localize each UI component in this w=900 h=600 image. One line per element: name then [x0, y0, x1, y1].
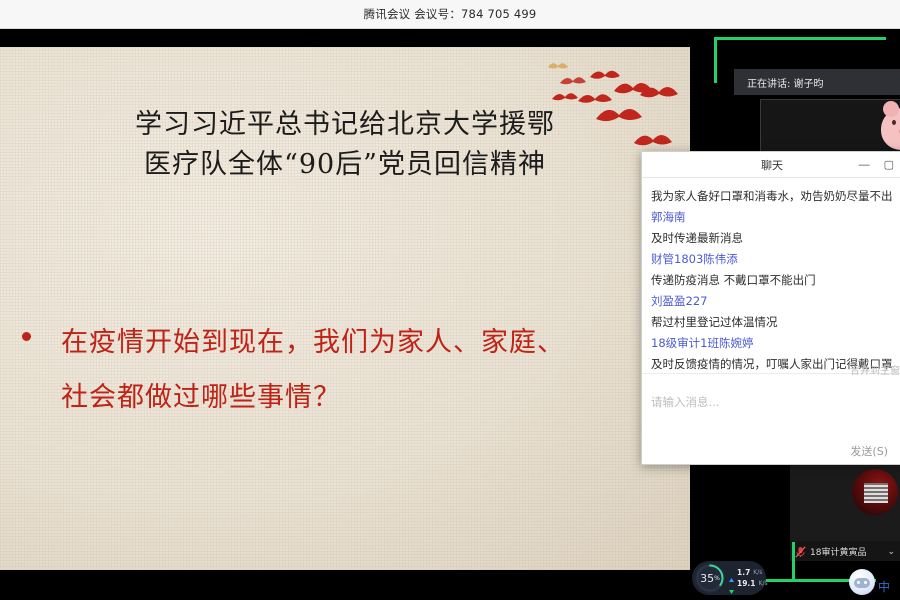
chat-message-list[interactable]: 我为家人备好口罩和消毒水，劝告奶奶尽量不出门郭海南及时传递最新消息财管1803陈…	[642, 178, 900, 373]
avatar-building-icon	[864, 483, 888, 503]
chat-message-sender: 郭海南	[651, 207, 893, 228]
merge-to-main-window-link[interactable]: 合并到主窗	[850, 362, 900, 377]
ime-language-indicator[interactable]: 中	[878, 578, 890, 595]
meeting-title-bar: 腾讯会议 会议号：784 705 499	[0, 0, 900, 29]
cpu-usage-value: 35%	[695, 563, 725, 593]
speaking-indicator: 正在讲话: 谢子昀	[734, 69, 900, 95]
upload-speed-unit: K/s	[753, 569, 762, 576]
chat-message-text: 我为家人备好口罩和消毒水，劝告奶奶尽量不出门	[651, 186, 893, 207]
assistant-avatar-icon[interactable]	[849, 569, 875, 595]
upload-arrow-icon	[729, 570, 734, 575]
chat-message-text: 帮过村里登记过体温情况	[651, 312, 893, 333]
meeting-window: 腾讯会议 会议号：784 705 499	[0, 0, 900, 600]
download-speed-row: 19.1 K/s	[729, 579, 768, 588]
avatar-cartoon-bear-icon	[881, 108, 900, 150]
chat-message-sender: 18级审计1班陈婉婷	[651, 333, 893, 354]
download-speed-unit: K/s	[759, 580, 768, 587]
network-monitor-widget[interactable]: 35% 1.7 K/s 19.1 K/s	[692, 561, 766, 595]
chat-message-text: 及时传递最新消息	[651, 228, 893, 249]
chat-input-area[interactable]: 请输入消息...	[642, 388, 900, 438]
slide-bullet: 在疫情开始到现在，我们为家人、家庭、 社会都做过哪些事情？	[22, 315, 682, 425]
shared-screen-stage: 学习习近平总书记给北京大学援鄂 医疗队全体“90后”党员回信精神 在疫情开始到现…	[0, 29, 710, 600]
speaking-label: 正在讲话: 谢子昀	[747, 75, 824, 90]
send-button[interactable]: 发送(S)	[846, 441, 892, 461]
cpu-usage-gauge: 35%	[695, 563, 725, 593]
slide-bullet-text: 在疫情开始到现在，我们为家人、家庭、 社会都做过哪些事情？	[61, 315, 565, 425]
chat-title-bar[interactable]: 聊天 — ▢	[642, 152, 900, 178]
upload-speed-row: 1.7 K/s	[729, 568, 768, 577]
chat-footer: 发送(S)	[642, 438, 900, 464]
minimize-icon[interactable]: —	[859, 160, 870, 171]
avatar-thumbnail	[852, 469, 898, 515]
download-arrow-icon	[729, 581, 734, 586]
bullet-marker-icon	[22, 332, 31, 341]
slide-title: 学习习近平总书记给北京大学援鄂 医疗队全体“90后”党员回信精神	[0, 105, 690, 185]
meeting-title: 腾讯会议 会议号：784 705 499	[364, 6, 537, 22]
chat-message-sender: 财管1803陈伟添	[651, 249, 893, 270]
chat-message-sender: 刘盈盈227	[651, 291, 893, 312]
merge-row: 合并到主窗	[642, 373, 900, 388]
chat-window: 聊天 — ▢ 我为家人备好口罩和消毒水，劝告奶奶尽量不出门郭海南及时传递最新消息…	[641, 151, 900, 465]
download-speed-value: 19.1	[737, 579, 756, 588]
chat-message-text: 传递防疫消息 不戴口罩不能出门	[651, 270, 893, 291]
chevron-down-icon[interactable]: ⌄	[887, 547, 895, 556]
presentation-slide: 学习习近平总书记给北京大学援鄂 医疗队全体“90后”党员回信精神 在疫情开始到现…	[0, 47, 690, 570]
maximize-icon[interactable]: ▢	[884, 160, 894, 171]
chat-input-placeholder: 请输入消息...	[651, 394, 893, 410]
upload-speed-value: 1.7	[737, 568, 750, 577]
chat-window-title: 聊天	[761, 157, 783, 173]
